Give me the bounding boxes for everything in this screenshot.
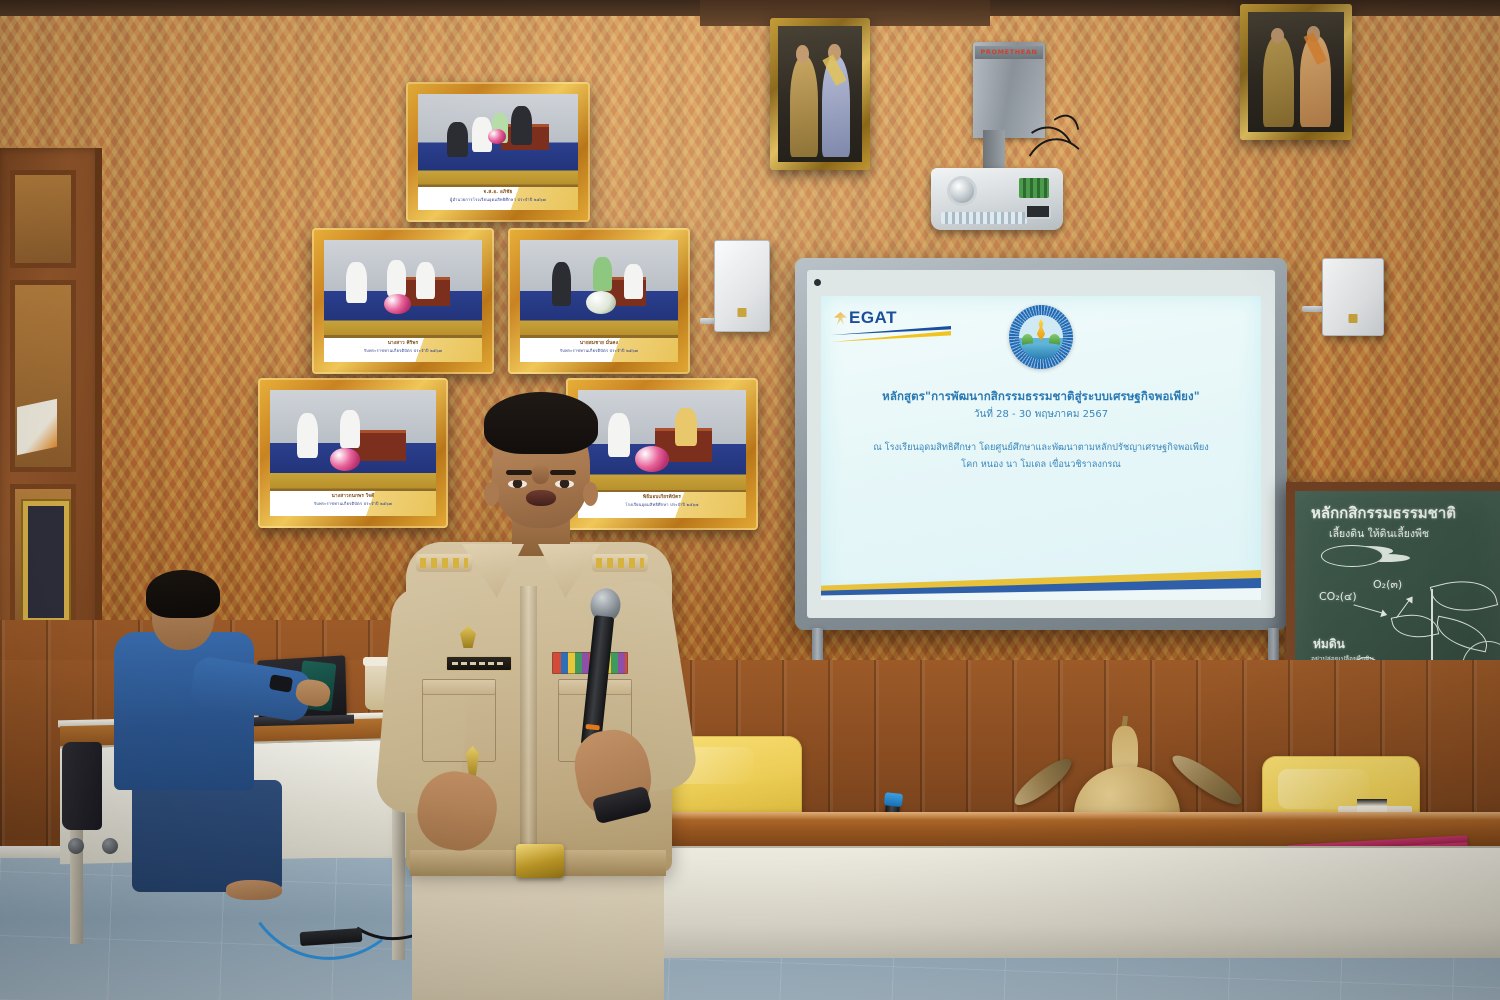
ceremony-photo-top-caption: จ.ส.อ. อภิชัย ผู้อำนวยการโรงเรียนอุดมสิท… <box>418 187 578 210</box>
chalkboard-title: หลักกสิกรรมธรรมชาติ <box>1311 501 1456 525</box>
door-pane-middle <box>10 280 76 472</box>
classroom-photo-scene: จ.ส.อ. อภิชัย ผู้อำนวยการโรงเรียนอุดมสิท… <box>0 0 1500 1000</box>
slide-date: วันที่ 28 - 30 พฤษภาคม 2567 <box>821 407 1261 422</box>
ceremony-photo-mid-left: นางสาว ศิริพร รับพระราชทานเกียรติบัตร ปร… <box>312 228 494 374</box>
slide-venue-line-2: โคก หนอง นา โมเดล เขื่อนวชิราลงกรณ <box>821 457 1261 472</box>
chalk-leaf-upper-right <box>1430 572 1498 620</box>
whiteboard-with-projection: EGAT หลักสูตร"การพัฒนากสิกรรมธรรมชาติส <box>795 258 1287 630</box>
royal-portrait-right-art <box>1248 12 1344 132</box>
seal-water <box>1019 343 1063 359</box>
projector-assembly: PROMETHEAN <box>925 42 1095 242</box>
chalk-arrow-co2 <box>1354 604 1387 614</box>
ceremony-photo-mid-left-caption: นางสาว ศิริพร รับพระราชทานเกียรติบัตร ปร… <box>324 338 482 362</box>
presenter-brow-right <box>550 470 576 475</box>
front-table-skirt <box>610 846 1500 958</box>
presenter-epaulet-left <box>416 554 472 572</box>
royal-portrait-left <box>770 18 870 170</box>
presenter-name-badge <box>446 656 512 671</box>
ceremony-photo-mid-right-caption: นายสมชาย มั่นคง รับพระราชทานเกียรติบัตร … <box>520 338 678 362</box>
presenter-epaulet-right <box>592 554 648 572</box>
presenter-trousers <box>412 870 664 1000</box>
presenter-brow-left <box>506 470 532 475</box>
ceremony-photo-mid-right-art: นายสมชาย มั่นคง รับพระราชทานเกียรติบัตร … <box>520 240 678 362</box>
presenter-hair <box>484 392 598 454</box>
speaker-logo-left <box>738 308 747 317</box>
office-chair-wheel-left <box>68 838 84 854</box>
wall-speaker-left <box>714 240 770 332</box>
slide-venue-line-1: ณ โรงเรียนอุดมสิทธิศึกษา โดยศูนย์ศึกษาแล… <box>821 440 1261 455</box>
egat-wordmark: EGAT <box>849 308 897 328</box>
chalkboard-subtitle: เลี้ยงดิน ให้ดินเลี้ยงพืช <box>1329 525 1429 542</box>
egat-swoosh-yellow <box>831 331 951 342</box>
ceremony-photo-mid-right: นายสมชาย มั่นคง รับพระราชทานเกียรติบัตร … <box>508 228 690 374</box>
presenter-belt-buckle <box>516 844 564 878</box>
presenter-eye-left <box>508 480 527 488</box>
slide-title: หลักสูตร"การพัฒนากสิกรรมธรรมชาติสู่ระบบเ… <box>821 388 1261 406</box>
whiteboard-sensor-dot <box>814 279 821 286</box>
ceremony-photo-mid-left-art: นางสาว ศิริพร รับพระราชทานเกียรติบัตร ปร… <box>324 240 482 362</box>
chalk-cloud-icon <box>1321 545 1383 567</box>
presenter-mouth <box>526 490 556 506</box>
presenter <box>380 378 680 1000</box>
royal-portrait-right <box>1240 4 1352 140</box>
seal-inner-scene <box>1019 315 1063 359</box>
small-framed-picture <box>23 501 69 623</box>
wall-speaker-right <box>1322 258 1384 336</box>
door-pane-bottom <box>10 484 76 634</box>
presenter-nose <box>532 464 549 484</box>
sufficiency-economy-seal <box>1009 305 1073 369</box>
chalk-label-o2: O₂(๓) <box>1373 575 1402 593</box>
presenter-eye-right <box>555 480 574 488</box>
projector-brand-label: PROMETHEAN <box>975 46 1043 59</box>
egat-bird-icon <box>834 312 847 325</box>
wooden-door-frame <box>0 148 102 668</box>
egat-logo: EGAT <box>831 304 951 352</box>
whiteboard-surface: EGAT หลักสูตร"การพัฒนากสิกรรมธรรมชาติส <box>807 270 1275 618</box>
projector-vent <box>941 212 1027 224</box>
speaker-logo-right <box>1349 314 1358 323</box>
office-chair-back <box>62 742 102 830</box>
ceremony-photo-top: จ.ส.อ. อภิชัย ผู้อำนวยการโรงเรียนอุดมสิท… <box>406 82 590 222</box>
seal-figure-icon <box>1035 319 1046 341</box>
technician-hair <box>146 570 220 618</box>
chalk-heading-mulch: ห่มดิน <box>1313 635 1345 654</box>
presenter-pocket-left <box>422 690 496 762</box>
presenter-ear-right <box>583 482 598 506</box>
projector-lens <box>947 176 977 206</box>
presenter-ear-left <box>484 482 499 506</box>
ceremony-photo-top-art: จ.ส.อ. อภิชัย ผู้อำนวยการโรงเรียนอุดมสิท… <box>418 94 578 210</box>
door-paper-notice <box>17 399 57 456</box>
royal-portrait-left-art <box>778 26 862 162</box>
presenter-shirt-placket <box>520 586 537 866</box>
chalk-label-co2: CO₂(๔) <box>1319 587 1357 605</box>
door-pane-top <box>10 170 76 268</box>
projected-slide: EGAT หลักสูตร"การพัฒนากสิกรรมธรรมชาติส <box>821 296 1261 600</box>
